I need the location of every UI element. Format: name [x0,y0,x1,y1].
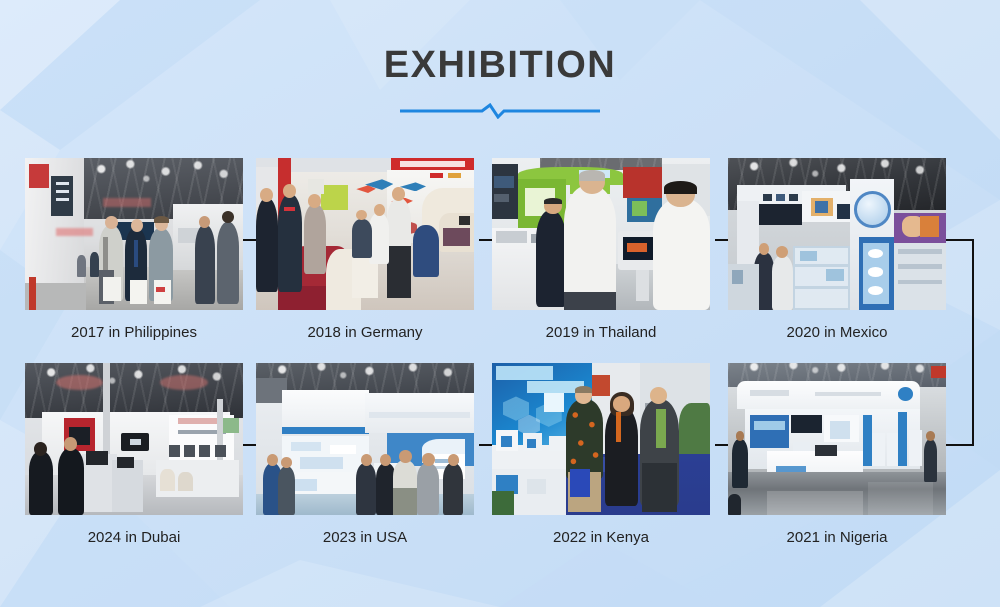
gallery-caption: 2023 in USA [256,529,474,546]
exhibition-photo-kenya[interactable] [492,363,710,515]
gallery-card[interactable]: 2020 in Mexico [728,158,946,341]
gallery-card[interactable]: 2024 in Dubai [25,363,243,546]
page-title: EXHIBITION [0,44,1000,87]
gallery-card[interactable]: 2021 in Nigeria [728,363,946,546]
header: EXHIBITION [0,0,1000,119]
gallery-card[interactable]: 2018 in Germany [256,158,474,341]
exhibition-page: EXHIBITION [0,0,1000,607]
exhibition-photo-dubai[interactable] [25,363,243,515]
exhibition-gallery: 2017 in Philippines [25,158,975,568]
gallery-caption: 2018 in Germany [256,324,474,341]
gallery-card[interactable]: 2019 in Thailand [492,158,710,341]
gallery-caption: 2024 in Dubai [25,529,243,546]
gallery-row: 2017 in Philippines [25,158,975,363]
gallery-card[interactable]: 2023 in USA [256,363,474,546]
gallery-row: 2024 in Dubai [25,363,975,568]
exhibition-photo-usa[interactable] [256,363,474,515]
exhibition-photo-mexico[interactable] [728,158,946,310]
gallery-card[interactable]: 2022 in Kenya [492,363,710,546]
gallery-caption: 2022 in Kenya [492,529,710,546]
gallery-caption: 2017 in Philippines [25,324,243,341]
gallery-caption: 2020 in Mexico [728,324,946,341]
heartbeat-pulse-divider-icon [400,103,600,119]
exhibition-photo-nigeria[interactable] [728,363,946,515]
exhibition-photo-philippines[interactable] [25,158,243,310]
gallery-card[interactable]: 2017 in Philippines [25,158,243,341]
title-divider [0,103,1000,119]
exhibition-photo-thailand[interactable] [492,158,710,310]
gallery-caption: 2021 in Nigeria [728,529,946,546]
gallery-caption: 2019 in Thailand [492,324,710,341]
exhibition-photo-germany[interactable] [256,158,474,310]
